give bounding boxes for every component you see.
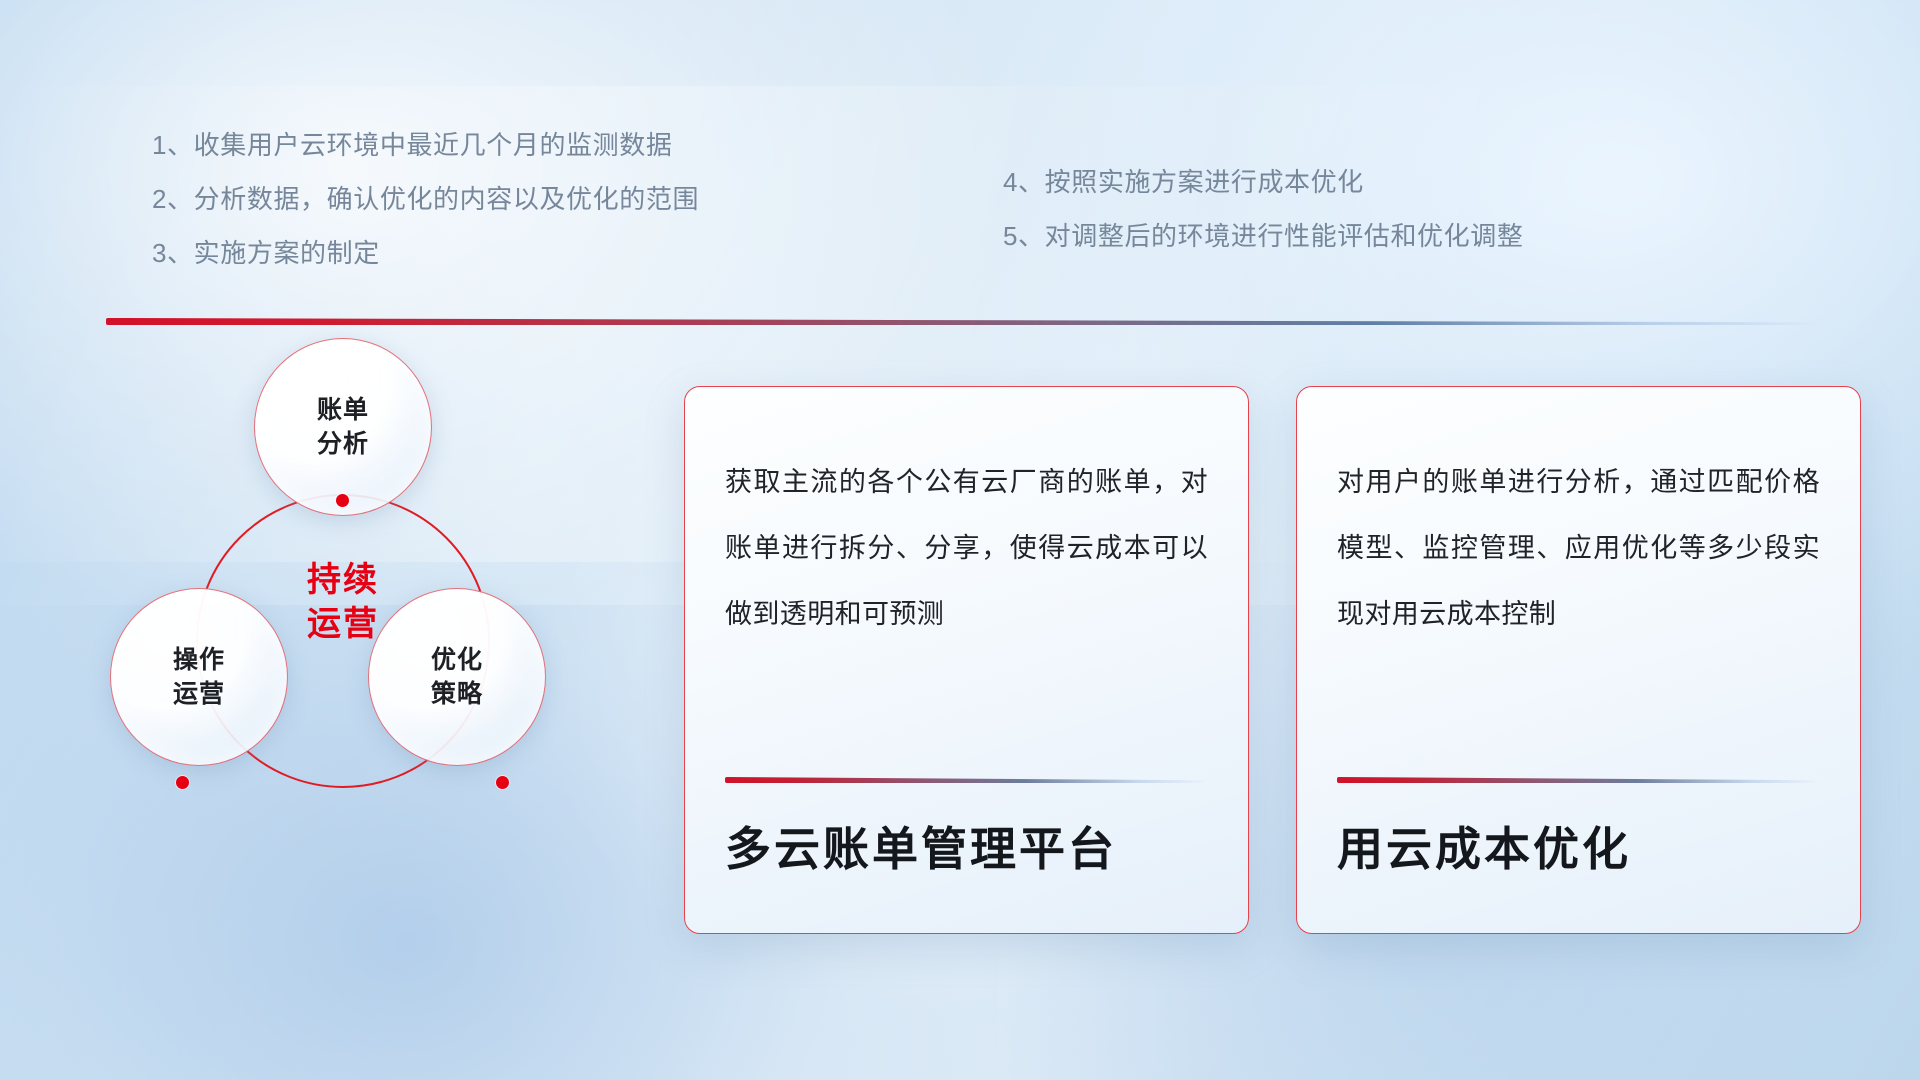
- feature-cards: 获取主流的各个公有云厂商的账单，对账单进行拆分、分享，使得云成本可以做到透明和可…: [0, 0, 1920, 1080]
- card-multicloud-billing-platform[interactable]: 获取主流的各个公有云厂商的账单，对账单进行拆分、分享，使得云成本可以做到透明和可…: [684, 386, 1249, 934]
- card-title: 用云成本优化: [1337, 819, 1820, 879]
- card-description: 对用户的账单进行分析，通过匹配价格模型、监控管理、应用优化等多少段实现对用云成本…: [1337, 449, 1820, 647]
- card-cloud-cost-optimization[interactable]: 对用户的账单进行分析，通过匹配价格模型、监控管理、应用优化等多少段实现对用云成本…: [1296, 386, 1861, 934]
- card-description: 获取主流的各个公有云厂商的账单，对账单进行拆分、分享，使得云成本可以做到透明和可…: [725, 449, 1208, 647]
- card-title: 多云账单管理平台: [725, 819, 1208, 879]
- card-divider-line: [1337, 777, 1820, 783]
- card-divider-line: [725, 777, 1208, 783]
